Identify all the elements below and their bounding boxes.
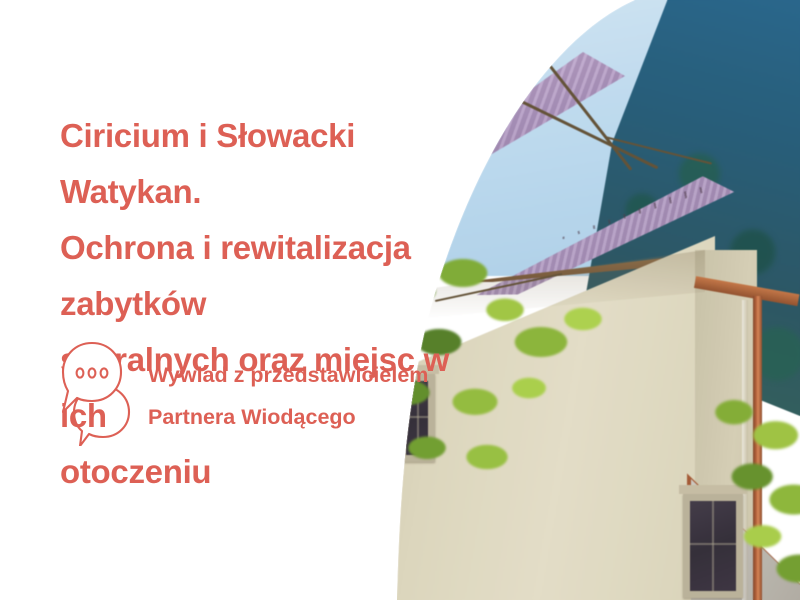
subtitle-text: Wywiad z przedstawicielem Partnera Wiodą… — [148, 354, 428, 438]
subtitle-group: Wywiad z przedstawicielem Partnera Wiodą… — [58, 340, 458, 446]
speech-bubbles-icon — [58, 340, 134, 446]
presentation-slide: Ciricium i Słowacki Watykan. Ochrona i r… — [0, 0, 800, 600]
